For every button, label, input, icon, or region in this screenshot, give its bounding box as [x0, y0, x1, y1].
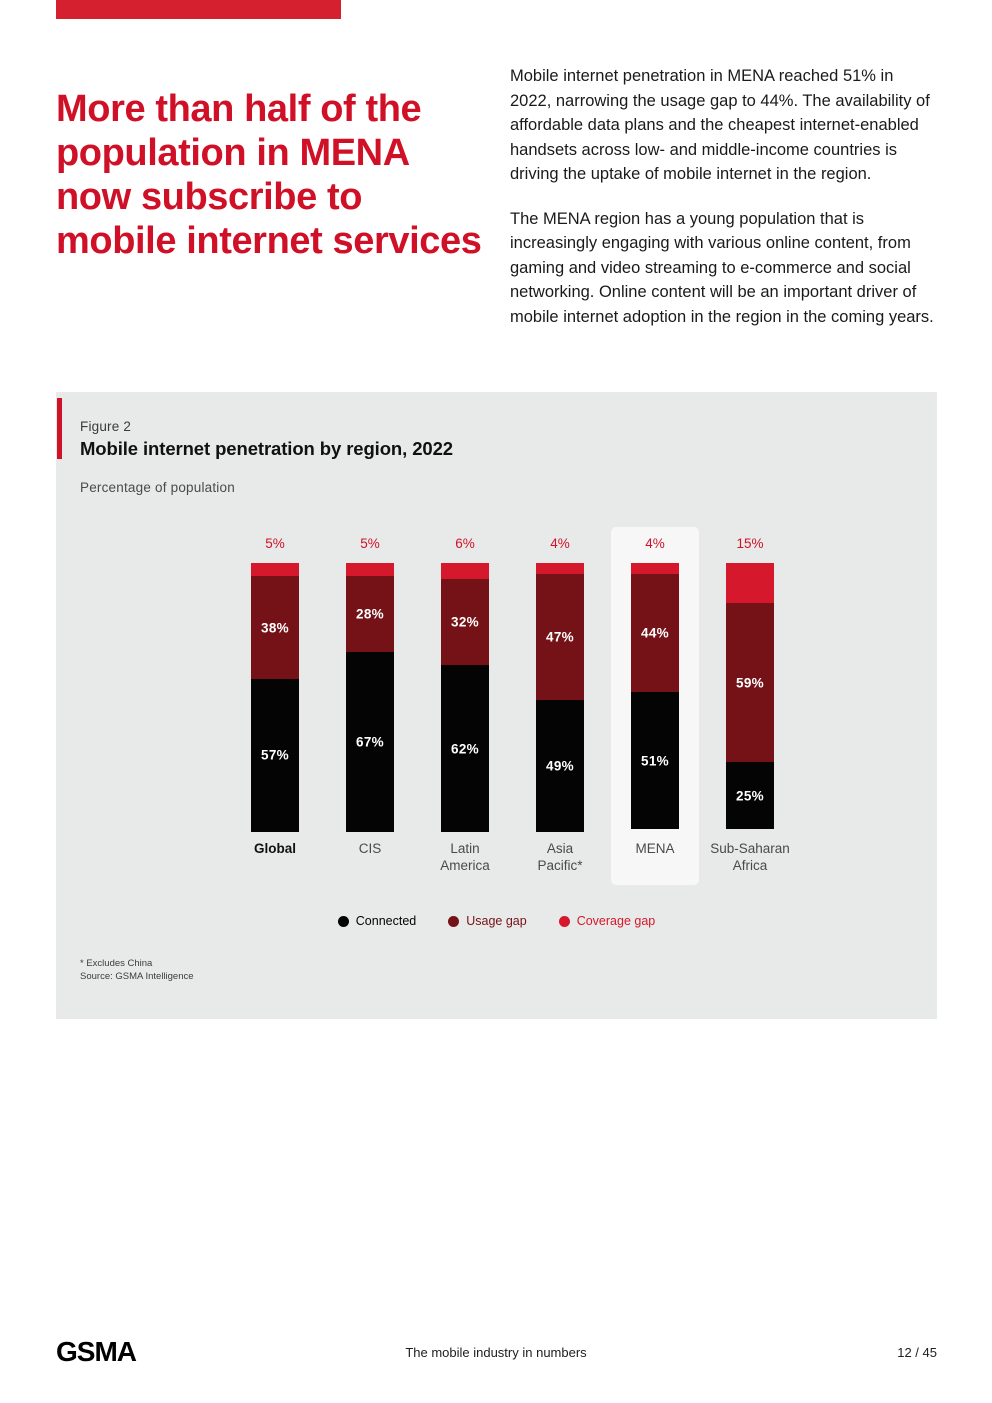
segment-connected-value-label: 67%	[346, 734, 394, 749]
segment-connected-value-label: 57%	[251, 748, 299, 763]
coverage-gap-value-label: 4%	[611, 536, 699, 551]
top-accent-rule	[56, 0, 341, 19]
segment-connected: 51%	[631, 692, 679, 829]
segment-usage-gap-value-label: 38%	[251, 620, 299, 635]
segment-coverage-gap	[346, 563, 394, 576]
figure-subtitle: Percentage of population	[80, 480, 235, 495]
figure-footnote: * Excludes China Source: GSMA Intelligen…	[80, 957, 194, 983]
segment-usage-gap-value-label: 47%	[536, 629, 584, 644]
stacked-bar: 44%51%	[631, 563, 679, 832]
figure-accent-bar	[57, 398, 62, 459]
x-axis-label: MENA	[611, 840, 699, 857]
segment-usage-gap-value-label: 32%	[441, 615, 489, 630]
segment-usage-gap-value-label: 28%	[346, 607, 394, 622]
segment-connected: 62%	[441, 665, 489, 832]
coverage-gap-value-label: 4%	[516, 536, 604, 551]
bar-group-sub-saharan-africa: 15%59%25%Sub-SaharanAfrica	[706, 522, 794, 882]
segment-connected-value-label: 25%	[726, 788, 774, 803]
intro-body-copy: Mobile internet penetration in MENA reac…	[510, 64, 934, 349]
intro-paragraph-2: The MENA region has a young population t…	[510, 207, 934, 330]
figure-title: Mobile internet penetration by region, 2…	[80, 438, 453, 460]
coverage-gap-value-label: 6%	[421, 536, 509, 551]
x-axis-label: CIS	[326, 840, 414, 857]
segment-usage-gap: 28%	[346, 576, 394, 651]
x-axis-label: AsiaPacific*	[516, 840, 604, 874]
legend-item-connected[interactable]: Connected	[338, 914, 416, 928]
stacked-bar: 59%25%	[726, 563, 774, 832]
segment-usage-gap: 32%	[441, 579, 489, 665]
coverage-gap-value-label: 5%	[326, 536, 414, 551]
legend-item-coverage-gap[interactable]: Coverage gap	[559, 914, 656, 928]
x-axis-label: LatinAmerica	[421, 840, 509, 874]
coverage-gap-value-label: 15%	[706, 536, 794, 551]
stacked-bar-chart: 5%38%57%Global5%28%67%CIS6%32%62%LatinAm…	[56, 522, 937, 882]
figure-panel: Figure 2 Mobile internet penetration by …	[56, 392, 937, 1019]
page-number: 12 / 45	[897, 1345, 937, 1360]
segment-usage-gap: 38%	[251, 576, 299, 678]
segment-connected: 67%	[346, 652, 394, 832]
chart-legend: ConnectedUsage gapCoverage gap	[56, 914, 937, 928]
segment-connected: 49%	[536, 700, 584, 832]
segment-usage-gap: 44%	[631, 574, 679, 692]
page-title: More than half of the population in MENA…	[56, 87, 486, 263]
segment-usage-gap: 59%	[726, 603, 774, 762]
segment-coverage-gap	[251, 563, 299, 576]
segment-connected-value-label: 49%	[536, 759, 584, 774]
segment-usage-gap: 47%	[536, 574, 584, 700]
intro-paragraph-1: Mobile internet penetration in MENA reac…	[510, 64, 934, 187]
x-axis-label: Global	[231, 840, 319, 857]
bar-group-mena: 4%44%51%MENA	[611, 522, 699, 882]
legend-item-usage-gap[interactable]: Usage gap	[448, 914, 526, 928]
segment-coverage-gap	[536, 563, 584, 574]
segment-connected: 57%	[251, 679, 299, 832]
footer-title: The mobile industry in numbers	[0, 1345, 992, 1360]
stacked-bar: 47%49%	[536, 563, 584, 832]
x-axis-label: Sub-SaharanAfrica	[706, 840, 794, 874]
bar-group-latin-america: 6%32%62%LatinAmerica	[421, 522, 509, 882]
legend-label: Usage gap	[466, 914, 526, 928]
bar-group-global: 5%38%57%Global	[231, 522, 319, 882]
legend-swatch-icon	[448, 916, 459, 927]
bar-group-cis: 5%28%67%CIS	[326, 522, 414, 882]
legend-label: Coverage gap	[577, 914, 656, 928]
page-footer: GSMA The mobile industry in numbers 12 /…	[0, 1328, 992, 1378]
coverage-gap-value-label: 5%	[231, 536, 319, 551]
segment-usage-gap-value-label: 59%	[726, 675, 774, 690]
segment-coverage-gap	[631, 563, 679, 574]
footnote-line-1: * Excludes China	[80, 957, 194, 970]
segment-connected-value-label: 62%	[441, 741, 489, 756]
figure-label: Figure 2	[80, 419, 131, 434]
segment-connected-value-label: 51%	[631, 753, 679, 768]
legend-label: Connected	[356, 914, 416, 928]
stacked-bar: 38%57%	[251, 563, 299, 832]
stacked-bar: 28%67%	[346, 563, 394, 832]
segment-connected: 25%	[726, 762, 774, 829]
bar-group-asia-pacific: 4%47%49%AsiaPacific*	[516, 522, 604, 882]
legend-swatch-icon	[338, 916, 349, 927]
footnote-line-2: Source: GSMA Intelligence	[80, 970, 194, 983]
segment-coverage-gap	[726, 563, 774, 603]
segment-coverage-gap	[441, 563, 489, 579]
legend-swatch-icon	[559, 916, 570, 927]
stacked-bar: 32%62%	[441, 563, 489, 832]
segment-usage-gap-value-label: 44%	[631, 625, 679, 640]
